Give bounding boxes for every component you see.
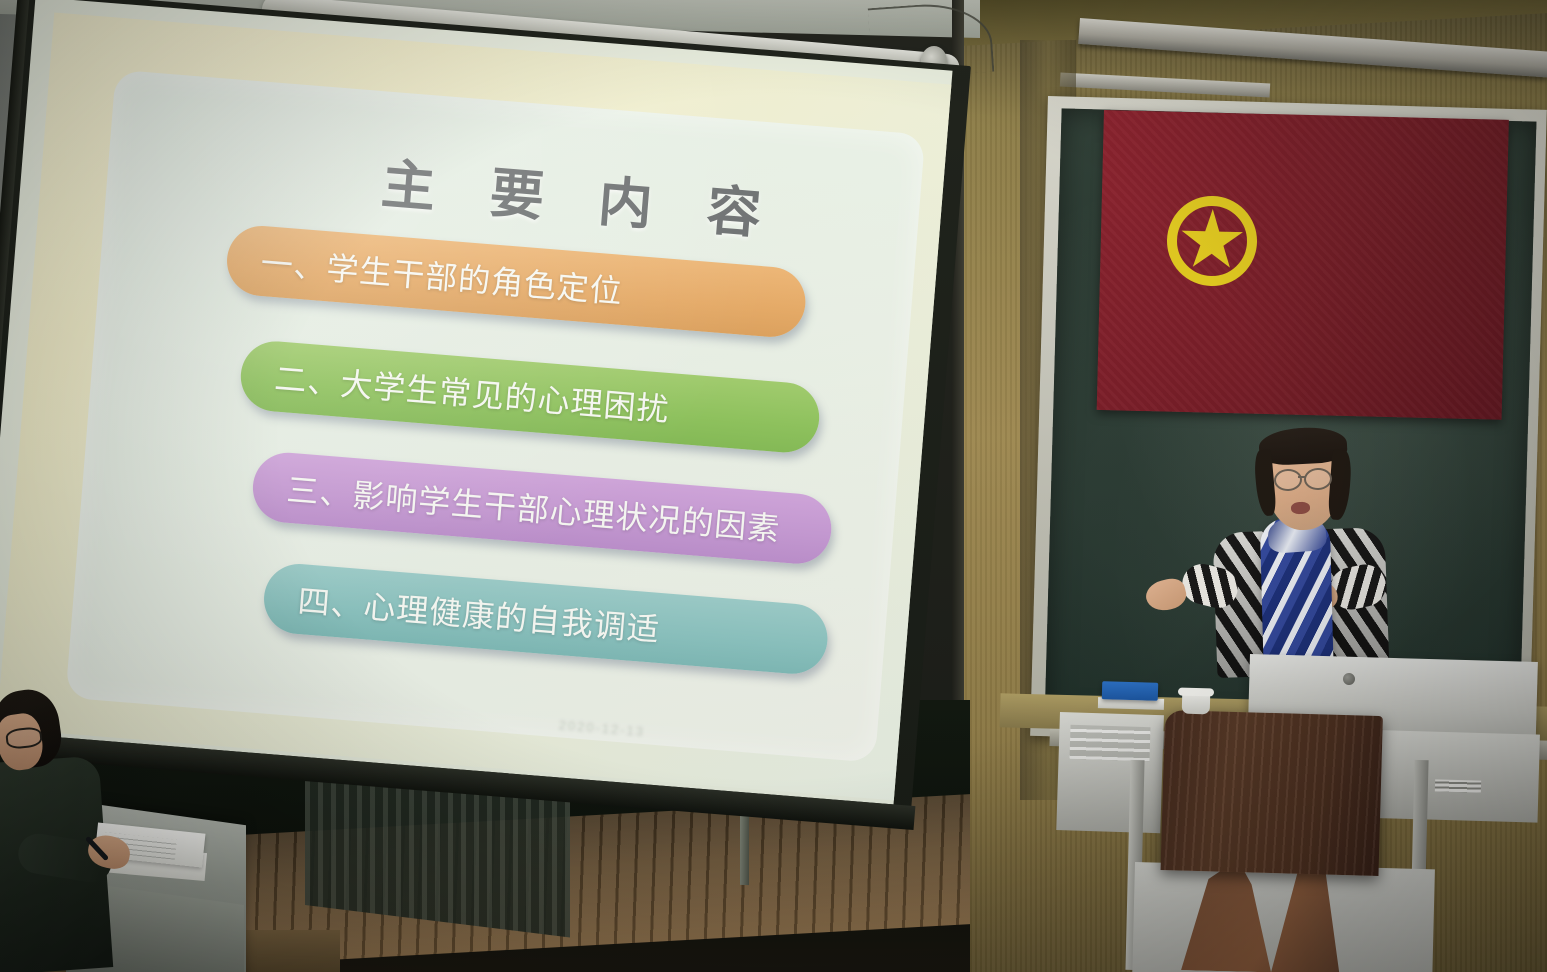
speaker-eyeglasses-bridge-icon — [1298, 476, 1306, 478]
podium-wood-panel — [1161, 710, 1383, 876]
projection-screen: 主 要 内 容 一、学生干部的角色定位 二、大学生常见的心理困扰 三、影响学生干… — [0, 0, 971, 854]
communist-youth-league-flag — [1097, 110, 1509, 420]
paper-cup-lid — [1178, 687, 1214, 696]
lectern-side-panel — [1373, 730, 1540, 823]
lectern-left-vents — [1069, 725, 1150, 761]
blue-product-box — [1102, 681, 1158, 701]
screen-surface: 主 要 内 容 一、学生干部的角色定位 二、大学生常见的心理困扰 三、影响学生干… — [0, 0, 953, 804]
presentation-slide: 主 要 内 容 一、学生干部的角色定位 二、大学生常见的心理困扰 三、影响学生干… — [0, 13, 953, 801]
lecture-hall-photo: 主 要 内 容 一、学生干部的角色定位 二、大学生常见的心理困扰 三、影响学生干… — [0, 0, 1547, 972]
lectern-sticker-label — [1435, 779, 1481, 792]
